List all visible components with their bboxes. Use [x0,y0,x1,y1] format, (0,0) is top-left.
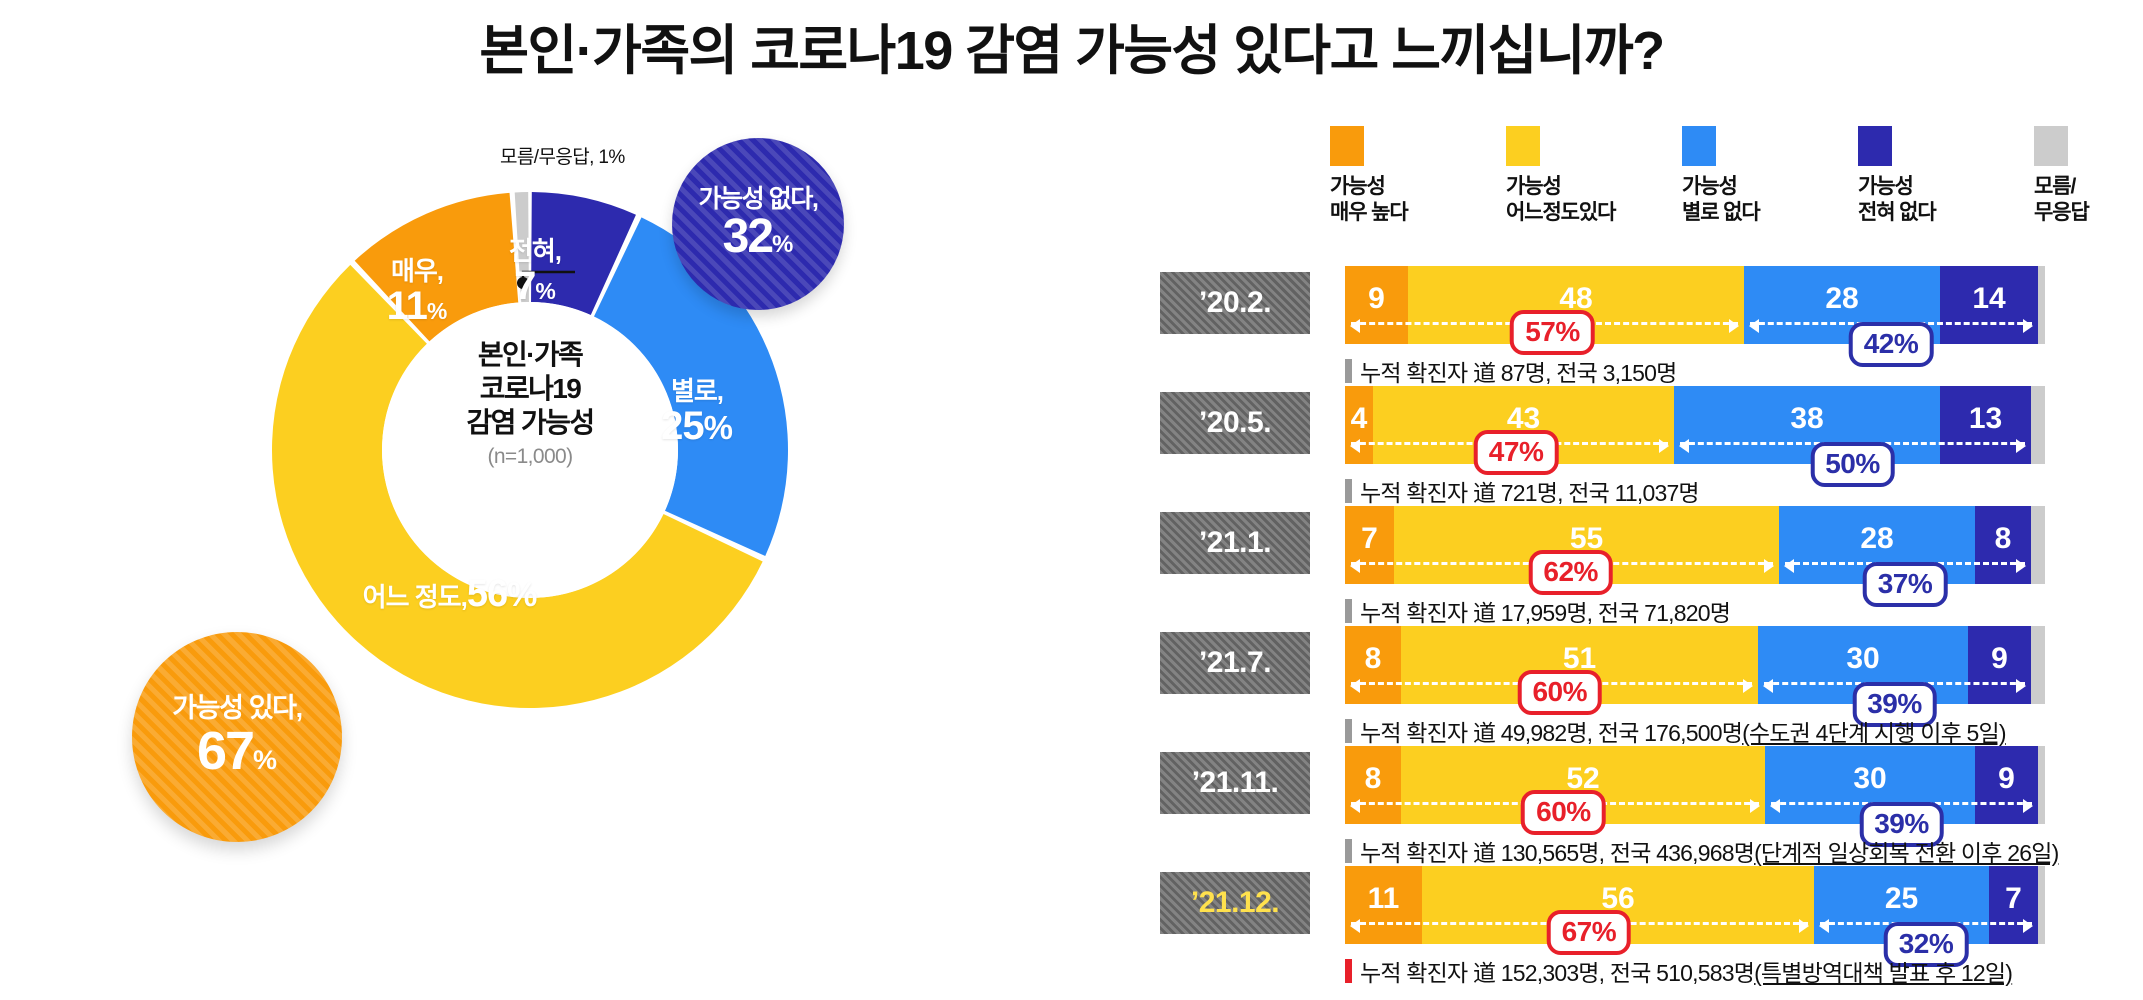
bar-date-label: ’21.7. [1160,632,1310,694]
legend-label-2: 가능성별로 없다 [1682,174,1790,225]
page-title: 본인·가족의 코로나19 감염 가능성 있다고 느끼십니까? [0,6,2143,85]
legend-label-line1-0: 가능성 [1330,174,1438,200]
note-marker [1345,719,1352,743]
bar-note: 누적 확진자 道 152,303명, 전국 510,583명 (특별방역대책 발… [1345,954,2012,988]
legend-swatch-3 [1858,126,1892,166]
bar-note: 누적 확진자 道 721명, 전국 11,037명 [1345,474,1699,508]
bar-segment-dk [2031,626,2045,704]
badge-yes-pct: % [253,745,277,775]
legend-item-0: 가능성매우 높다 [1330,126,1438,225]
legend-label-line1-1: 가능성 [1506,174,1614,200]
badge-no-pct: % [772,231,793,258]
note-marker [1345,839,1352,863]
badge-possible-no: 가능성 없다, 32% [672,138,844,310]
bar-note: 누적 확진자 道 130,565명, 전국 436,968명 (단계적 일상회복… [1345,834,2058,868]
bar-row: ’21.12.115625767%32%누적 확진자 道 152,303명, 전… [1160,866,2125,986]
bar-track: 851309 [1345,626,2045,704]
bar-row: ’20.5.443381347%50%누적 확진자 道 721명, 전국 11,… [1160,386,2125,506]
no-total-pill: 37% [1863,562,1948,607]
legend-item-4: 모름/무응답 [2034,126,2142,225]
legend-item-3: 가능성전혀 없다 [1858,126,1966,225]
note-marker [1345,959,1352,983]
donut-chart: 모름/무응답, 1% 본인·가족 코로나19 감염 가능성 (n=1,000) … [120,120,940,920]
note-text: 누적 확진자 道 130,565명, 전국 436,968명 [1360,834,1754,868]
legend-item-2: 가능성별로 없다 [1682,126,1790,225]
yes-total-pill: 62% [1528,550,1613,595]
dk-leader-label: 모름/무응답, 1% [500,142,625,169]
note-text: 누적 확진자 道 152,303명, 전국 510,583명 [1360,954,1754,988]
bar-track: 4433813 [1345,386,2045,464]
legend-label-line2-3: 전혀 없다 [1858,200,1966,226]
bar-row: ’21.11.85230960%39%누적 확진자 道 130,565명, 전국… [1160,746,2125,866]
badge-no-caption: 가능성 없다, [698,186,817,212]
yes-total-pill: 67% [1547,910,1632,955]
bar-note: 누적 확진자 道 17,959명, 전국 71,820명 [1345,594,1730,628]
note-text: 누적 확진자 道 721명, 전국 11,037명 [1360,474,1699,508]
donut-center-label: 본인·가족 코로나19 감염 가능성 (n=1,000) [416,338,644,470]
legend-label-4: 모름/무응답 [2034,174,2142,225]
legend-label-0: 가능성매우 높다 [1330,174,1438,225]
legend-label-line2-0: 매우 높다 [1330,200,1438,226]
bar-segment-little: 38 [1674,386,1940,464]
legend-label-line2-2: 별로 없다 [1682,200,1790,226]
center-line-3: 감염 가능성 [416,406,644,440]
badge-no-value: 32 [723,210,772,263]
legend-label-3: 가능성전혀 없다 [1858,174,1966,225]
legend-item-1: 가능성어느정도있다 [1506,126,1614,225]
bar-segment-dk [2038,266,2045,344]
badge-possible-yes: 가능성 있다, 67% [132,632,342,842]
bar-date-label: ’21.12. [1160,872,1310,934]
bar-segment-dk [2038,866,2045,944]
center-line-2: 코로나19 [416,372,644,406]
bar-segment-dk [2031,506,2045,584]
legend-swatch-4 [2034,126,2068,166]
legend-label-line1-3: 가능성 [1858,174,1966,200]
legend: 가능성매우 높다가능성어느정도있다가능성별로 없다가능성전혀 없다모름/무응답 [1330,126,2142,225]
note-marker [1345,599,1352,623]
center-line-1: 본인·가족 [416,338,644,372]
bar-track: 9482814 [1345,266,2045,344]
note-text: 누적 확진자 道 49,982명, 전국 176,500명 [1360,714,1742,748]
note-annotation: (단계적 일상회복 전환 이후 26일) [1754,834,2058,868]
note-text: 누적 확진자 道 87명, 전국 3,150명 [1360,354,1677,388]
note-annotation: (수도권 4단계 시행 이후 5일) [1742,714,2006,748]
bar-note: 누적 확진자 道 49,982명, 전국 176,500명 (수도권 4단계 시… [1345,714,2006,748]
bar-date-label: ’20.5. [1160,392,1310,454]
bar-chart: ’20.2.948281457%42%누적 확진자 道 87명, 전국 3,15… [1160,266,2125,986]
yes-total-pill: 57% [1510,310,1595,355]
yes-total-pill: 47% [1474,430,1559,475]
badge-yes-caption: 가능성 있다, [172,694,301,722]
bar-row: ’21.7.85130960%39%누적 확진자 道 49,982명, 전국 1… [1160,626,2125,746]
legend-swatch-1 [1506,126,1540,166]
no-total-pill: 42% [1849,322,1934,367]
bar-row: ’21.1.75528862%37%누적 확진자 道 17,959명, 전국 7… [1160,506,2125,626]
badge-yes-value: 67 [197,721,253,781]
note-marker [1345,359,1352,383]
note-marker [1345,479,1352,503]
legend-label-line2-1: 어느정도있다 [1506,200,1614,226]
yes-total-pill: 60% [1521,790,1606,835]
bar-note: 누적 확진자 道 87명, 전국 3,150명 [1345,354,1677,388]
legend-label-1: 가능성어느정도있다 [1506,174,1614,225]
bar-date-label: ’21.1. [1160,512,1310,574]
legend-label-line2-4: 무응답 [2034,200,2142,226]
bar-segment-dk [2031,386,2045,464]
bar-date-label: ’21.11. [1160,752,1310,814]
bar-segment-dk [2038,746,2045,824]
bar-date-label: ’20.2. [1160,272,1310,334]
note-text: 누적 확진자 道 17,959명, 전국 71,820명 [1360,594,1730,628]
no-total-pill: 50% [1810,442,1895,487]
center-sample-size: (n=1,000) [416,444,644,470]
legend-label-line1-4: 모름/ [2034,174,2142,200]
legend-swatch-2 [1682,126,1716,166]
yes-total-pill: 60% [1517,670,1602,715]
legend-swatch-0 [1330,126,1364,166]
legend-label-line1-2: 가능성 [1682,174,1790,200]
note-annotation: (특별방역대책 발표 후 12일) [1754,954,2012,988]
bar-row: ’20.2.948281457%42%누적 확진자 道 87명, 전국 3,15… [1160,266,2125,386]
